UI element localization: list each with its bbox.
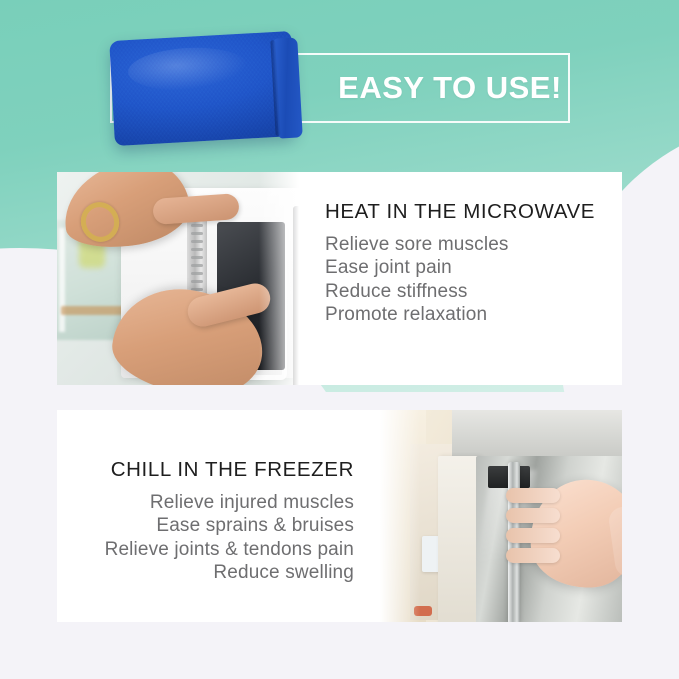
window-frame-bar — [59, 228, 65, 332]
infographic-stage: EASY TO USE! — [0, 0, 679, 679]
list-item: Reduce swelling — [83, 561, 354, 585]
freezer-photo — [380, 410, 622, 622]
panel-heading-freezer: CHILL IN THE FREEZER — [83, 458, 354, 483]
list-item: Promote relaxation — [325, 303, 596, 327]
panel-heading-microwave: HEAT IN THE MICROWAVE — [325, 200, 596, 225]
fridge-top-panel — [452, 410, 622, 458]
microwave-text-block: HEAT IN THE MICROWAVE Relieve sore muscl… — [299, 172, 622, 385]
list-item: Ease sprains & bruises — [83, 514, 354, 538]
list-item: Reduce stiffness — [325, 280, 596, 304]
hand-fingers — [506, 488, 560, 564]
panel-microwave: HEAT IN THE MICROWAVE Relieve sore muscl… — [57, 172, 622, 385]
list-item: Relieve sore muscles — [325, 233, 596, 257]
page-title: EASY TO USE! — [330, 62, 570, 114]
benefit-list-freezer: Relieve injured muscles Ease sprains & b… — [83, 491, 354, 585]
photo-fade-left — [380, 410, 420, 622]
photo-fade-right — [259, 172, 299, 385]
panel-freezer: CHILL IN THE FREEZER Relieve injured mus… — [57, 410, 622, 622]
list-item: Relieve injured muscles — [83, 491, 354, 515]
freezer-text-block: CHILL IN THE FREEZER Relieve injured mus… — [57, 410, 380, 622]
microwave-photo — [57, 172, 299, 385]
hero-header: EASY TO USE! — [0, 0, 679, 172]
list-item: Relieve joints & tendons pain — [83, 538, 354, 562]
benefit-list-microwave: Relieve sore muscles Ease joint pain Red… — [325, 233, 596, 327]
list-item: Ease joint pain — [325, 256, 596, 280]
product-pouch-image — [112, 36, 294, 141]
